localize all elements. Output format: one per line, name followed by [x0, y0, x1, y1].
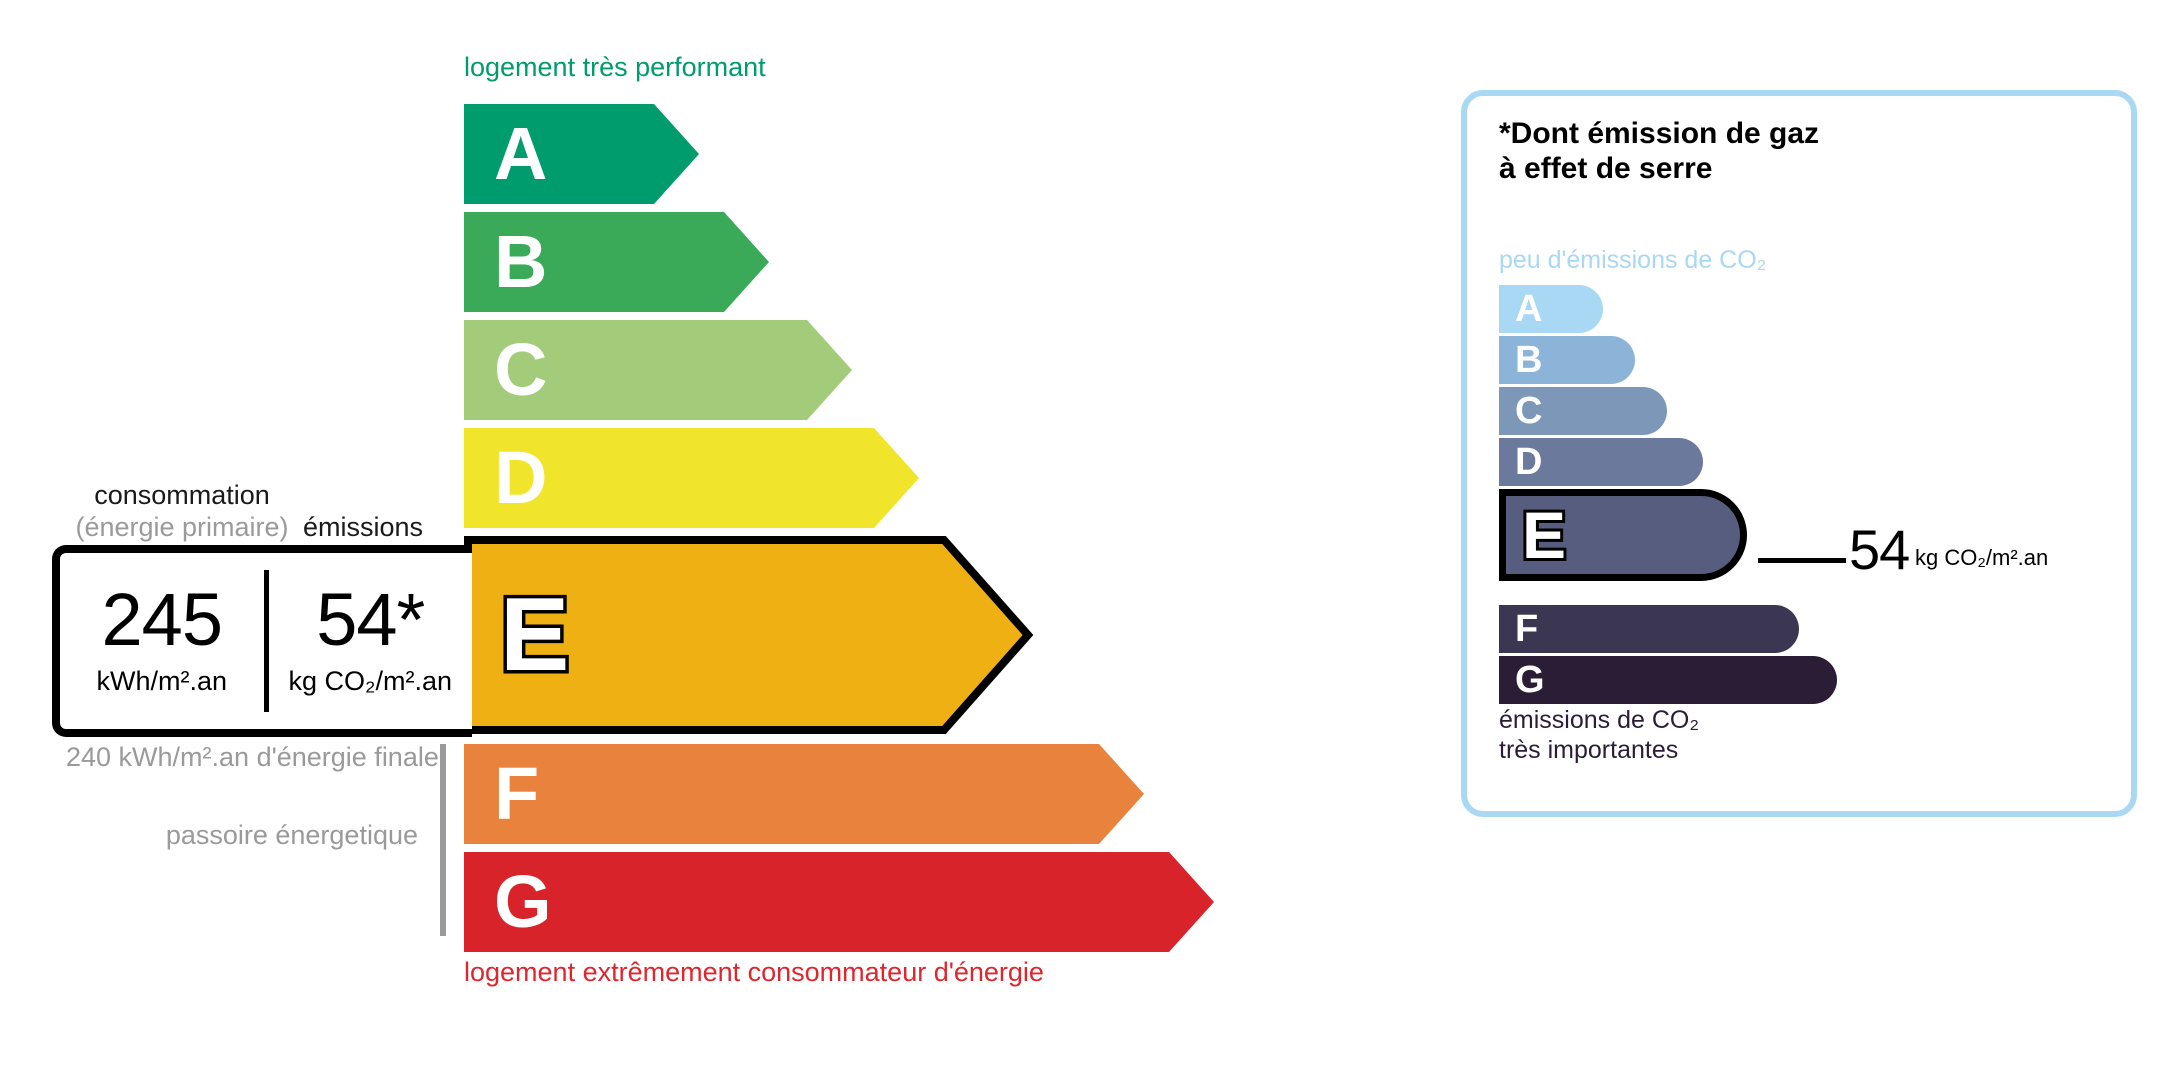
ges-bar-e-selected: E — [1499, 489, 1747, 581]
ges-bar-d-letter: D — [1515, 443, 1542, 481]
value-box: 245 kWh/m².an 54* kg CO₂/m².an — [52, 545, 472, 737]
ges-bar-f: F — [1499, 605, 1799, 653]
greenhouse-gas-panel: *Dont émission de gaz à effet de serre p… — [1461, 90, 2137, 817]
ges-bar-e-letter: E — [1522, 502, 1566, 568]
energy-band-d-letter: D — [494, 441, 547, 515]
passoire-energetique-note: passoire énergetique — [0, 820, 418, 852]
ges-bar-c-letter: C — [1515, 392, 1542, 430]
energy-band-a: A — [464, 104, 699, 204]
energy-band-g: G — [464, 852, 1214, 952]
energy-band-e-letter: E — [500, 583, 569, 687]
band-f-arrow-shape — [464, 744, 1144, 844]
final-energy-note: 240 kWh/m².an d'énergie finale — [66, 742, 439, 774]
energy-band-g-letter: G — [494, 865, 552, 939]
ges-bottom-caption: émissions de CO₂ très importantes — [1499, 706, 1699, 765]
chart-bottom-caption: logement extrêmement consommateur d'éner… — [464, 957, 1044, 988]
energy-value: 245 — [60, 585, 264, 655]
ges-value-cell: 54* kg CO₂/m².an — [269, 585, 473, 696]
ges-value: 54* — [269, 585, 473, 655]
energy-value-cell: 245 kWh/m².an — [60, 585, 264, 696]
energy-unit: kWh/m².an — [60, 666, 264, 697]
emissions-label: émissions — [303, 512, 423, 543]
ges-callout-unit: kg CO₂/m².an — [1915, 545, 2048, 571]
ges-unit: kg CO₂/m².an — [269, 666, 473, 697]
energy-band-e-selected: E — [464, 536, 1034, 734]
ges-bar-c: C — [1499, 387, 1667, 435]
consumption-label: consommation — [62, 480, 302, 511]
ges-callout-leader-line — [1758, 558, 1846, 563]
energy-band-d: D — [464, 428, 919, 528]
chart-top-caption: logement très performant — [464, 52, 766, 83]
ges-callout-value: 54 — [1849, 522, 1909, 578]
ges-bar-b: B — [1499, 336, 1635, 384]
band-g-arrow-shape — [464, 852, 1214, 952]
passoire-vertical-rule — [440, 744, 446, 936]
primary-energy-label: (énergie primaire) — [42, 512, 322, 543]
ges-panel-title: *Dont émission de gaz à effet de serre — [1499, 116, 1819, 187]
ges-bar-d: D — [1499, 438, 1703, 486]
ges-bar-g-letter: G — [1515, 661, 1545, 699]
ges-bar-a-letter: A — [1515, 290, 1542, 328]
energy-band-b: B — [464, 212, 769, 312]
ges-bar-g: G — [1499, 656, 1837, 704]
energy-band-f-letter: F — [494, 757, 539, 831]
energy-performance-chart: logement très performant A B C D E — [0, 0, 1300, 1079]
ges-bar-a: A — [1499, 285, 1603, 333]
energy-band-c-letter: C — [494, 333, 547, 407]
energy-band-b-letter: B — [494, 225, 547, 299]
energy-band-a-letter: A — [494, 117, 547, 191]
ges-bar-f-letter: F — [1515, 610, 1538, 648]
energy-band-c: C — [464, 320, 852, 420]
energy-band-f: F — [464, 744, 1144, 844]
ges-bar-b-letter: B — [1515, 341, 1542, 379]
ges-top-caption: peu d'émissions de CO₂ — [1499, 246, 1766, 275]
